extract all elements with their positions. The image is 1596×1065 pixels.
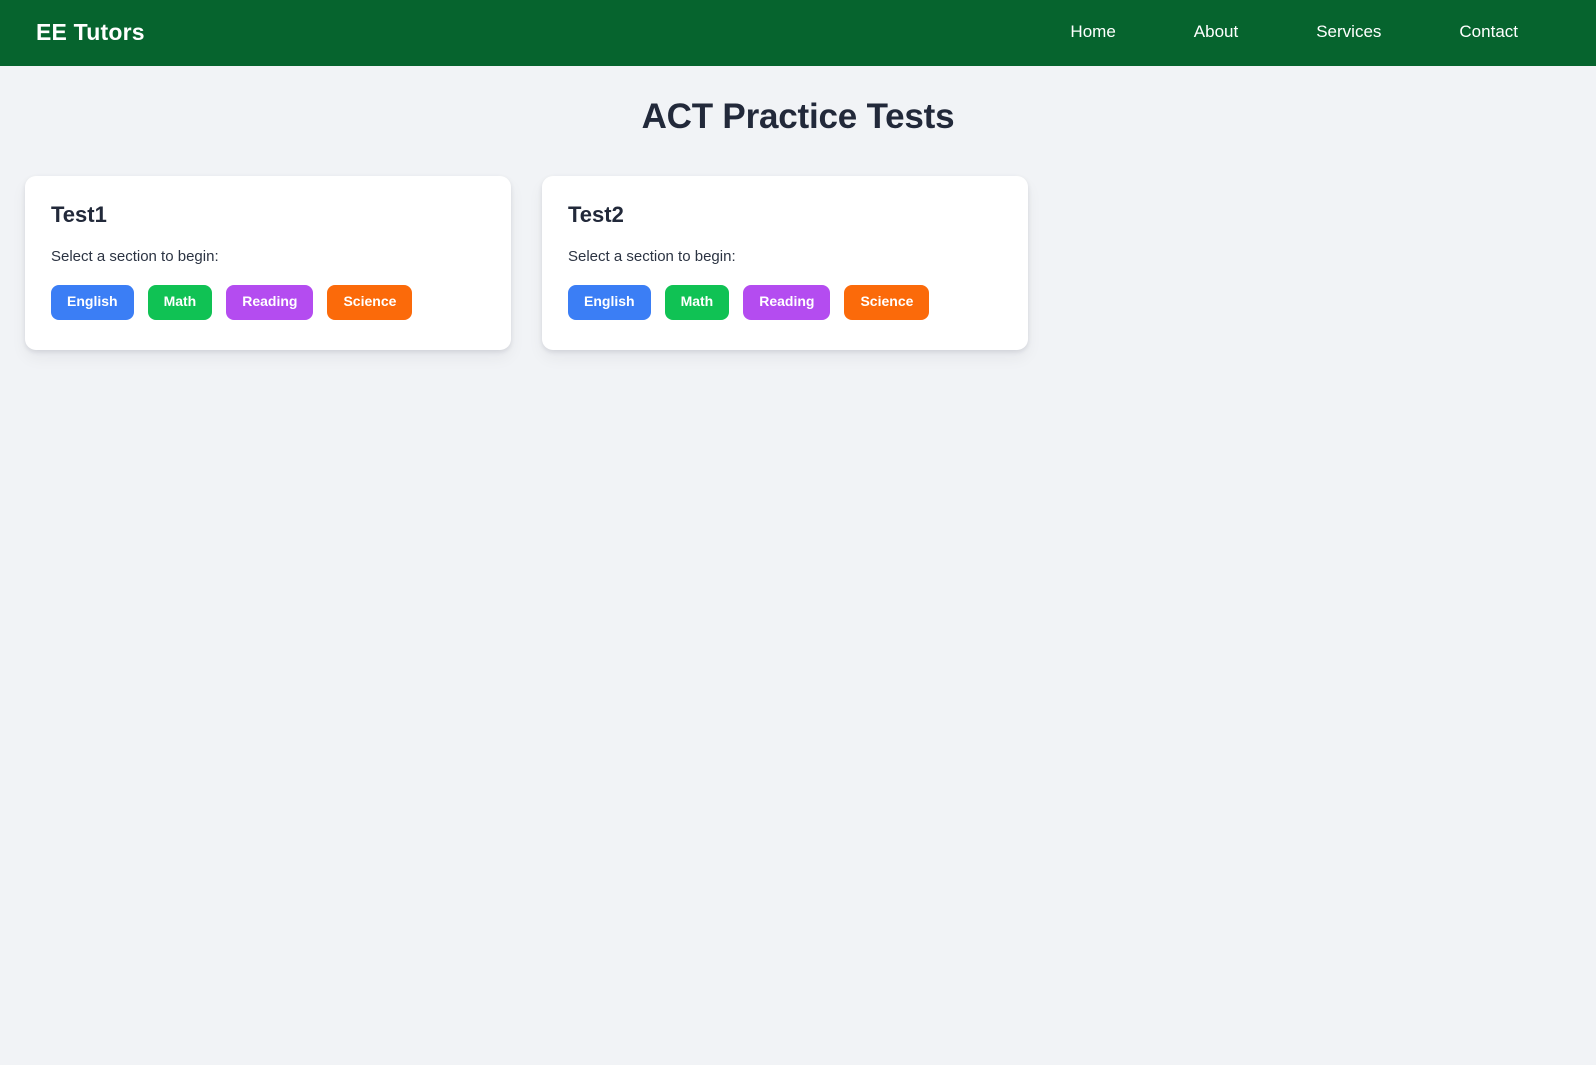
- section-button-math[interactable]: Math: [148, 285, 213, 319]
- nav-link-contact[interactable]: Contact: [1459, 16, 1518, 48]
- section-button-reading[interactable]: Reading: [226, 285, 313, 319]
- nav-link-about[interactable]: About: [1194, 16, 1238, 48]
- section-button-science[interactable]: Science: [844, 285, 929, 319]
- section-button-group: English Math Reading Science: [568, 285, 1002, 319]
- section-button-english[interactable]: English: [51, 285, 134, 319]
- test-card-list: Test1 Select a section to begin: English…: [0, 176, 1596, 350]
- section-button-math[interactable]: Math: [665, 285, 730, 319]
- site-logo[interactable]: EE Tutors: [36, 21, 145, 44]
- test-card-test1: Test1 Select a section to begin: English…: [25, 176, 511, 350]
- section-button-english[interactable]: English: [568, 285, 651, 319]
- test-card-subtitle: Select a section to begin:: [51, 246, 485, 267]
- main-content: ACT Practice Tests Test1 Select a sectio…: [0, 66, 1596, 350]
- top-navbar: EE Tutors Home About Services Contact: [0, 0, 1596, 66]
- section-button-science[interactable]: Science: [327, 285, 412, 319]
- primary-navigation: Home About Services Contact: [1070, 16, 1518, 48]
- test-card-subtitle: Select a section to begin:: [568, 246, 1002, 267]
- nav-link-home[interactable]: Home: [1070, 16, 1115, 48]
- nav-link-services[interactable]: Services: [1316, 16, 1381, 48]
- section-button-group: English Math Reading Science: [51, 285, 485, 319]
- test-card-title: Test2: [568, 202, 1002, 228]
- test-card-title: Test1: [51, 202, 485, 228]
- section-button-reading[interactable]: Reading: [743, 285, 830, 319]
- page-title: ACT Practice Tests: [0, 66, 1596, 137]
- test-card-test2: Test2 Select a section to begin: English…: [542, 176, 1028, 350]
